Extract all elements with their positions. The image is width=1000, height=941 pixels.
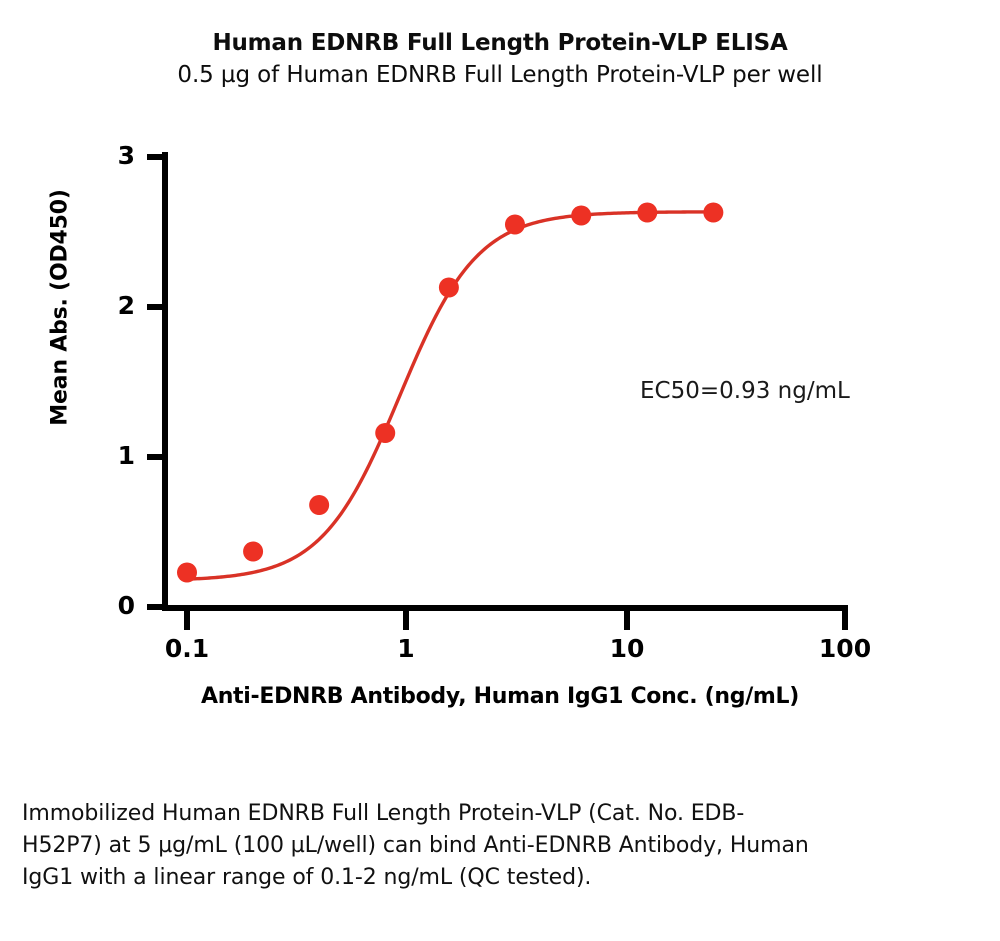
data-point [505,215,525,235]
x-axis-title: Anti-EDNRB Antibody, Human IgG1 Conc. (n… [100,684,900,709]
x-tick-label-10: 10 [567,636,687,661]
data-point [309,495,329,515]
y-tick-label-2: 2 [95,293,135,318]
data-point [439,278,459,298]
data-point [177,563,197,583]
data-point [243,542,263,562]
plot-svg [0,0,1000,780]
x-tick-label-0point1: 0.1 [127,636,247,661]
plot-area: 3 2 1 0 0.1 1 10 100 Mean Abs. (OD450) A… [0,0,1000,780]
y-tick-label-1: 1 [95,443,135,468]
fit-curve [187,212,713,579]
y-axis-title: Mean Abs. (OD450) [48,168,73,448]
y-tick-label-0: 0 [95,593,135,618]
x-tick-label-1: 1 [346,636,466,661]
data-point [637,203,657,223]
ec50-annotation: EC50=0.93 ng/mL [640,378,850,404]
data-point [571,206,591,226]
data-point [375,423,395,443]
x-tick-label-100: 100 [785,636,905,661]
elisa-figure: Human EDNRB Full Length Protein-VLP ELIS… [0,0,1000,780]
y-tick-label-3: 3 [95,143,135,168]
figure-caption: Immobilized Human EDNRB Full Length Prot… [22,798,822,894]
data-point [703,203,723,223]
